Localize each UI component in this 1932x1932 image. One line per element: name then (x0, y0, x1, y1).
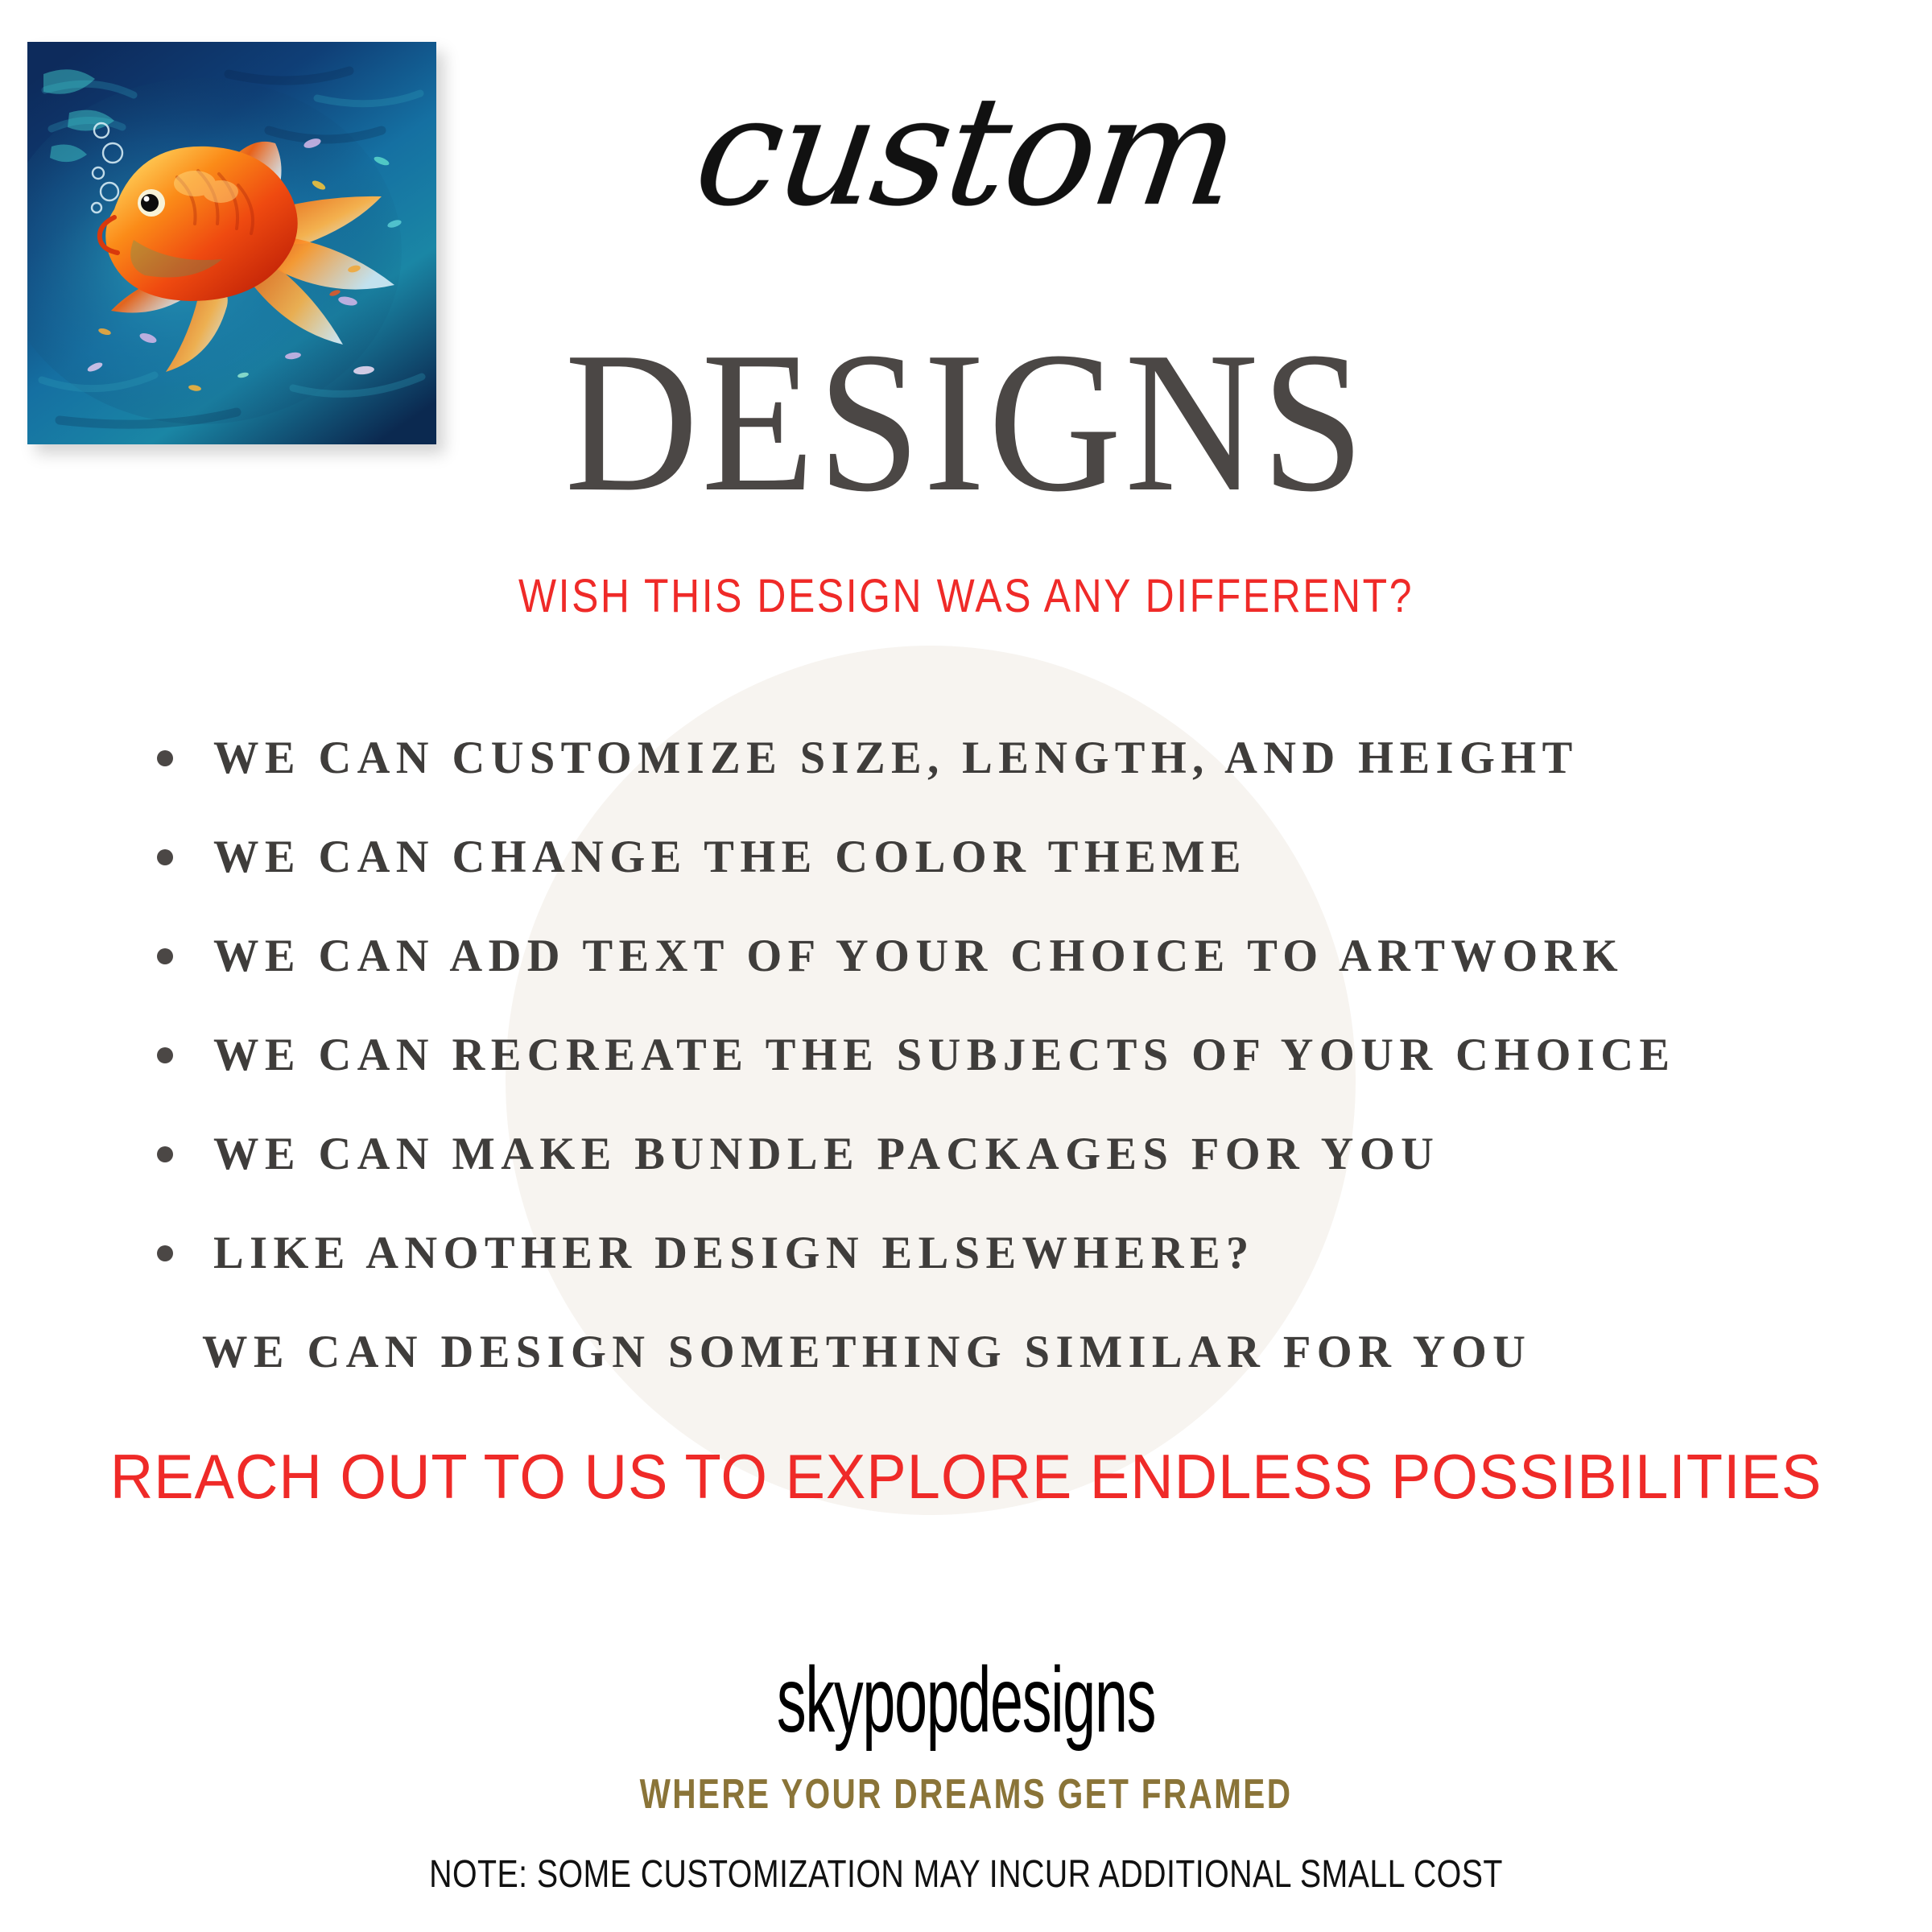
poster-canvas: custom DESIGNS WISH THIS DESIGN WAS ANY … (0, 0, 1932, 1932)
main-heading-designs: DESIGNS (77, 322, 1855, 523)
list-item-label: WE CAN CHANGE THE COLOR THEME (213, 834, 1247, 880)
list-item: LIKE ANOTHER DESIGN ELSEWHERE? (157, 1203, 1807, 1302)
list-item: WE CAN RECREATE THE SUBJECTS OF YOUR CHO… (157, 1005, 1807, 1104)
footnote-disclaimer: NOTE: SOME CUSTOMIZATION MAY INCUR ADDIT… (174, 1856, 1758, 1894)
list-item: WE CAN CHANGE THE COLOR THEME (157, 807, 1807, 906)
list-item: WE CAN MAKE BUNDLE PACKAGES FOR YOU (157, 1104, 1807, 1203)
script-heading-custom: custom (0, 76, 1932, 228)
call-to-action-text: REACH OUT TO US TO EXPLORE ENDLESS POSSI… (48, 1445, 1884, 1508)
bullet-dot-icon (157, 1245, 173, 1261)
bullet-dot-icon (157, 849, 173, 865)
list-item-label: WE CAN ADD TEXT OF YOUR CHOICE TO ARTWOR… (213, 933, 1624, 979)
list-item-label: WE CAN MAKE BUNDLE PACKAGES FOR YOU (213, 1131, 1439, 1177)
bullet-dot-icon (157, 948, 173, 964)
list-item-continuation: WE CAN DESIGN SOMETHING SIMILAR FOR YOU (157, 1302, 1807, 1402)
feature-bullet-list: WE CAN CUSTOMIZE SIZE, LENGTH, AND HEIGH… (157, 708, 1807, 1402)
list-item-label: WE CAN RECREATE THE SUBJECTS OF YOUR CHO… (213, 1032, 1675, 1078)
brand-wordmark: skypopdesigns (348, 1654, 1584, 1747)
subtitle-question: WISH THIS DESIGN WAS ANY DIFFERENT? (135, 573, 1797, 620)
list-item-label: LIKE ANOTHER DESIGN ELSEWHERE? (213, 1230, 1255, 1276)
list-item: WE CAN ADD TEXT OF YOUR CHOICE TO ARTWOR… (157, 906, 1807, 1005)
bullet-dot-icon (157, 1146, 173, 1162)
list-item-label: WE CAN DESIGN SOMETHING SIMILAR FOR YOU (202, 1329, 1531, 1375)
list-item-label: WE CAN CUSTOMIZE SIZE, LENGTH, AND HEIGH… (213, 735, 1579, 781)
bullet-dot-icon (157, 750, 173, 766)
brand-tagline: WHERE YOUR DREAMS GET FRAMED (213, 1773, 1719, 1815)
bullet-dot-icon (157, 1047, 173, 1063)
list-item: WE CAN CUSTOMIZE SIZE, LENGTH, AND HEIGH… (157, 708, 1807, 807)
